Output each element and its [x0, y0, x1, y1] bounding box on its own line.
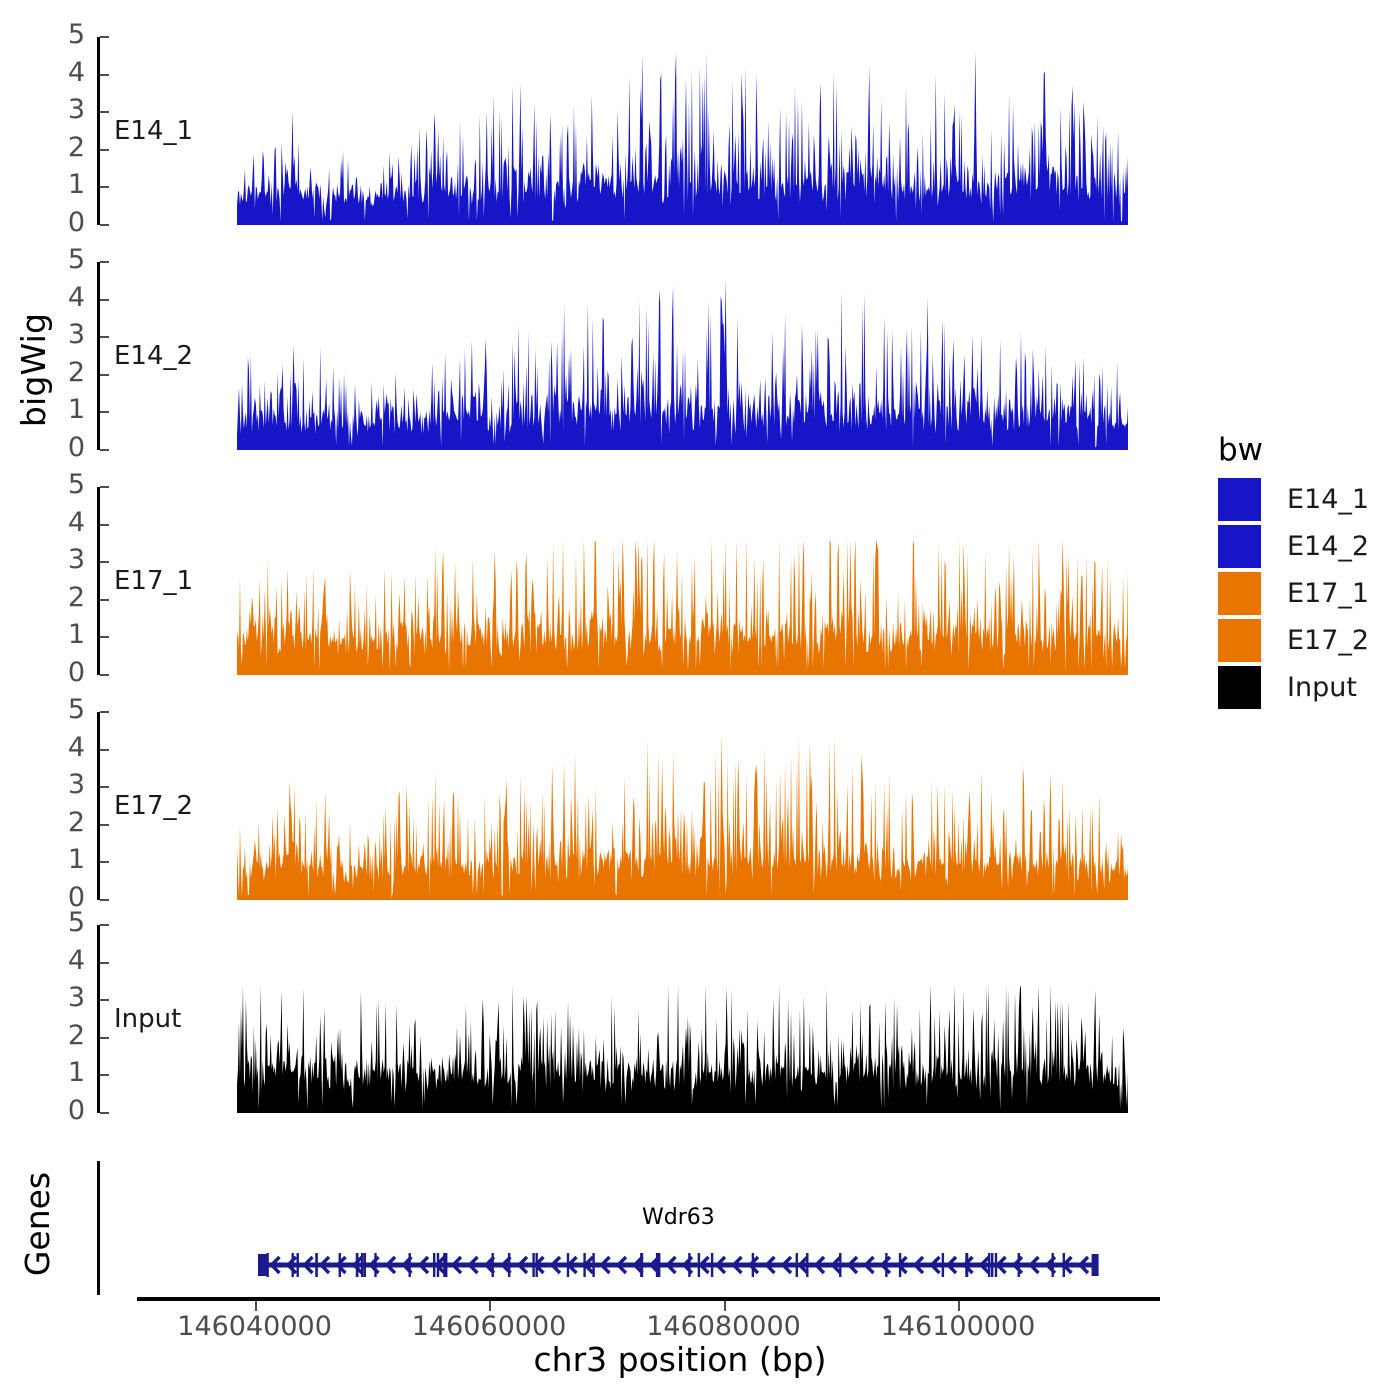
y-tick — [100, 524, 109, 526]
track-panel-e14_2: 543210E14_2 — [0, 0, 1400, 1400]
genes-panel-title: Genes — [18, 1157, 57, 1291]
x-axis-title: chr3 position (bp) — [230, 1340, 1130, 1379]
legend-item-input[interactable]: Input — [1218, 666, 1357, 709]
y-tick-label: 2 — [45, 807, 85, 838]
y-tick — [100, 186, 109, 188]
y-tick-label: 4 — [45, 507, 85, 538]
coverage-track-input — [237, 925, 1128, 1113]
genes-axis-line — [97, 1161, 100, 1295]
y-tick-label: 5 — [45, 907, 85, 938]
y-tick-label: 3 — [45, 544, 85, 575]
panel-label-e17_1: E17_1 — [114, 566, 193, 596]
panel-label-e17_2: E17_2 — [114, 791, 193, 821]
legend-swatch-e17_1 — [1218, 572, 1261, 615]
x-tick-label: 146060000 — [359, 1311, 619, 1342]
y-tick-label: 0 — [45, 207, 85, 238]
y-tick-label: 1 — [45, 844, 85, 875]
y-tick — [100, 336, 109, 338]
y-tick-label: 2 — [45, 132, 85, 163]
coverage-track-e17_2 — [237, 712, 1128, 900]
legend-swatch-e14_2 — [1218, 525, 1261, 568]
y-tick — [100, 449, 109, 451]
y-axis-title: bigWig — [14, 270, 53, 470]
y-tick — [100, 74, 109, 76]
y-tick — [100, 411, 109, 413]
legend-item-e14_2[interactable]: E14_2 — [1218, 525, 1369, 568]
x-tick — [958, 1301, 960, 1311]
y-tick-label: 0 — [45, 1095, 85, 1126]
y-tick — [100, 899, 109, 901]
y-tick-label: 3 — [45, 94, 85, 125]
y-tick-label: 0 — [45, 657, 85, 688]
track-panel-e14_1: 543210E14_1 — [0, 0, 1400, 1400]
y-tick — [100, 36, 109, 38]
y-tick-label: 1 — [45, 169, 85, 200]
y-axis-line — [97, 262, 100, 450]
y-tick-label: 3 — [45, 769, 85, 800]
y-tick — [100, 374, 109, 376]
y-tick-label: 5 — [45, 19, 85, 50]
y-tick — [100, 561, 109, 563]
y-tick — [100, 149, 109, 151]
y-tick-label: 0 — [45, 882, 85, 913]
y-tick — [100, 261, 109, 263]
y-tick — [100, 636, 109, 638]
y-tick — [100, 674, 109, 676]
y-tick-label: 5 — [45, 469, 85, 500]
y-tick — [100, 1074, 109, 1076]
x-tick-label: 146080000 — [594, 1311, 854, 1342]
x-tick-label: 146100000 — [828, 1311, 1088, 1342]
legend-swatch-e17_2 — [1218, 619, 1261, 662]
track-panel-e17_2: 543210E17_2 — [0, 0, 1400, 1400]
y-tick-label: 2 — [45, 582, 85, 613]
y-tick-label: 5 — [45, 694, 85, 725]
gene-model-wdr63 — [258, 1248, 1099, 1282]
y-tick — [100, 962, 109, 964]
y-tick — [100, 1112, 109, 1114]
panel-label-e14_1: E14_1 — [114, 116, 193, 146]
y-tick-label: 1 — [45, 619, 85, 650]
y-axis-line — [97, 487, 100, 675]
y-tick — [100, 599, 109, 601]
y-tick — [100, 924, 109, 926]
track-panel-input: 543210Input — [0, 0, 1400, 1400]
x-tick — [724, 1301, 726, 1311]
y-tick — [100, 224, 109, 226]
y-tick — [100, 486, 109, 488]
coverage-track-e14_1 — [237, 37, 1128, 225]
panel-label-input: Input — [114, 1004, 181, 1034]
y-tick-label: 4 — [45, 732, 85, 763]
y-tick-label: 2 — [45, 1020, 85, 1051]
legend-item-e17_2[interactable]: E17_2 — [1218, 619, 1369, 662]
y-tick-label: 3 — [45, 982, 85, 1013]
track-panel-e17_1: 543210E17_1 — [0, 0, 1400, 1400]
y-axis-line — [97, 712, 100, 900]
x-tick — [489, 1301, 491, 1311]
y-tick-label: 4 — [45, 57, 85, 88]
y-axis-line — [97, 37, 100, 225]
y-tick — [100, 749, 109, 751]
coverage-track-e17_1 — [237, 487, 1128, 675]
legend-label: E14_1 — [1287, 484, 1369, 515]
legend-label: Input — [1287, 672, 1357, 703]
legend-item-e17_1[interactable]: E17_1 — [1218, 572, 1369, 615]
legend-item-e14_1[interactable]: E14_1 — [1218, 478, 1369, 521]
y-tick — [100, 299, 109, 301]
y-tick — [100, 786, 109, 788]
legend-label: E14_2 — [1287, 531, 1369, 562]
y-tick — [100, 999, 109, 1001]
legend-swatch-input — [1218, 666, 1261, 709]
y-tick — [100, 824, 109, 826]
y-tick — [100, 111, 109, 113]
y-tick-label: 1 — [45, 1057, 85, 1088]
legend-swatch-e14_1 — [1218, 478, 1261, 521]
gene-name-label: Wdr63 — [578, 1205, 778, 1230]
legend-label: E17_2 — [1287, 625, 1369, 656]
y-tick — [100, 861, 109, 863]
x-tick — [255, 1301, 257, 1311]
coverage-track-e14_2 — [237, 262, 1128, 450]
legend-label: E17_1 — [1287, 578, 1369, 609]
y-tick-label: 4 — [45, 945, 85, 976]
legend-title: bw — [1218, 432, 1263, 468]
y-axis-line — [97, 925, 100, 1113]
bigwig-genome-track-figure: bigWig 543210E14_1543210E14_2543210E17_1… — [0, 0, 1400, 1400]
panel-label-e14_2: E14_2 — [114, 341, 193, 371]
x-axis-line — [137, 1297, 1160, 1301]
y-tick — [100, 1037, 109, 1039]
x-tick-label: 146040000 — [125, 1311, 385, 1342]
y-tick — [100, 711, 109, 713]
